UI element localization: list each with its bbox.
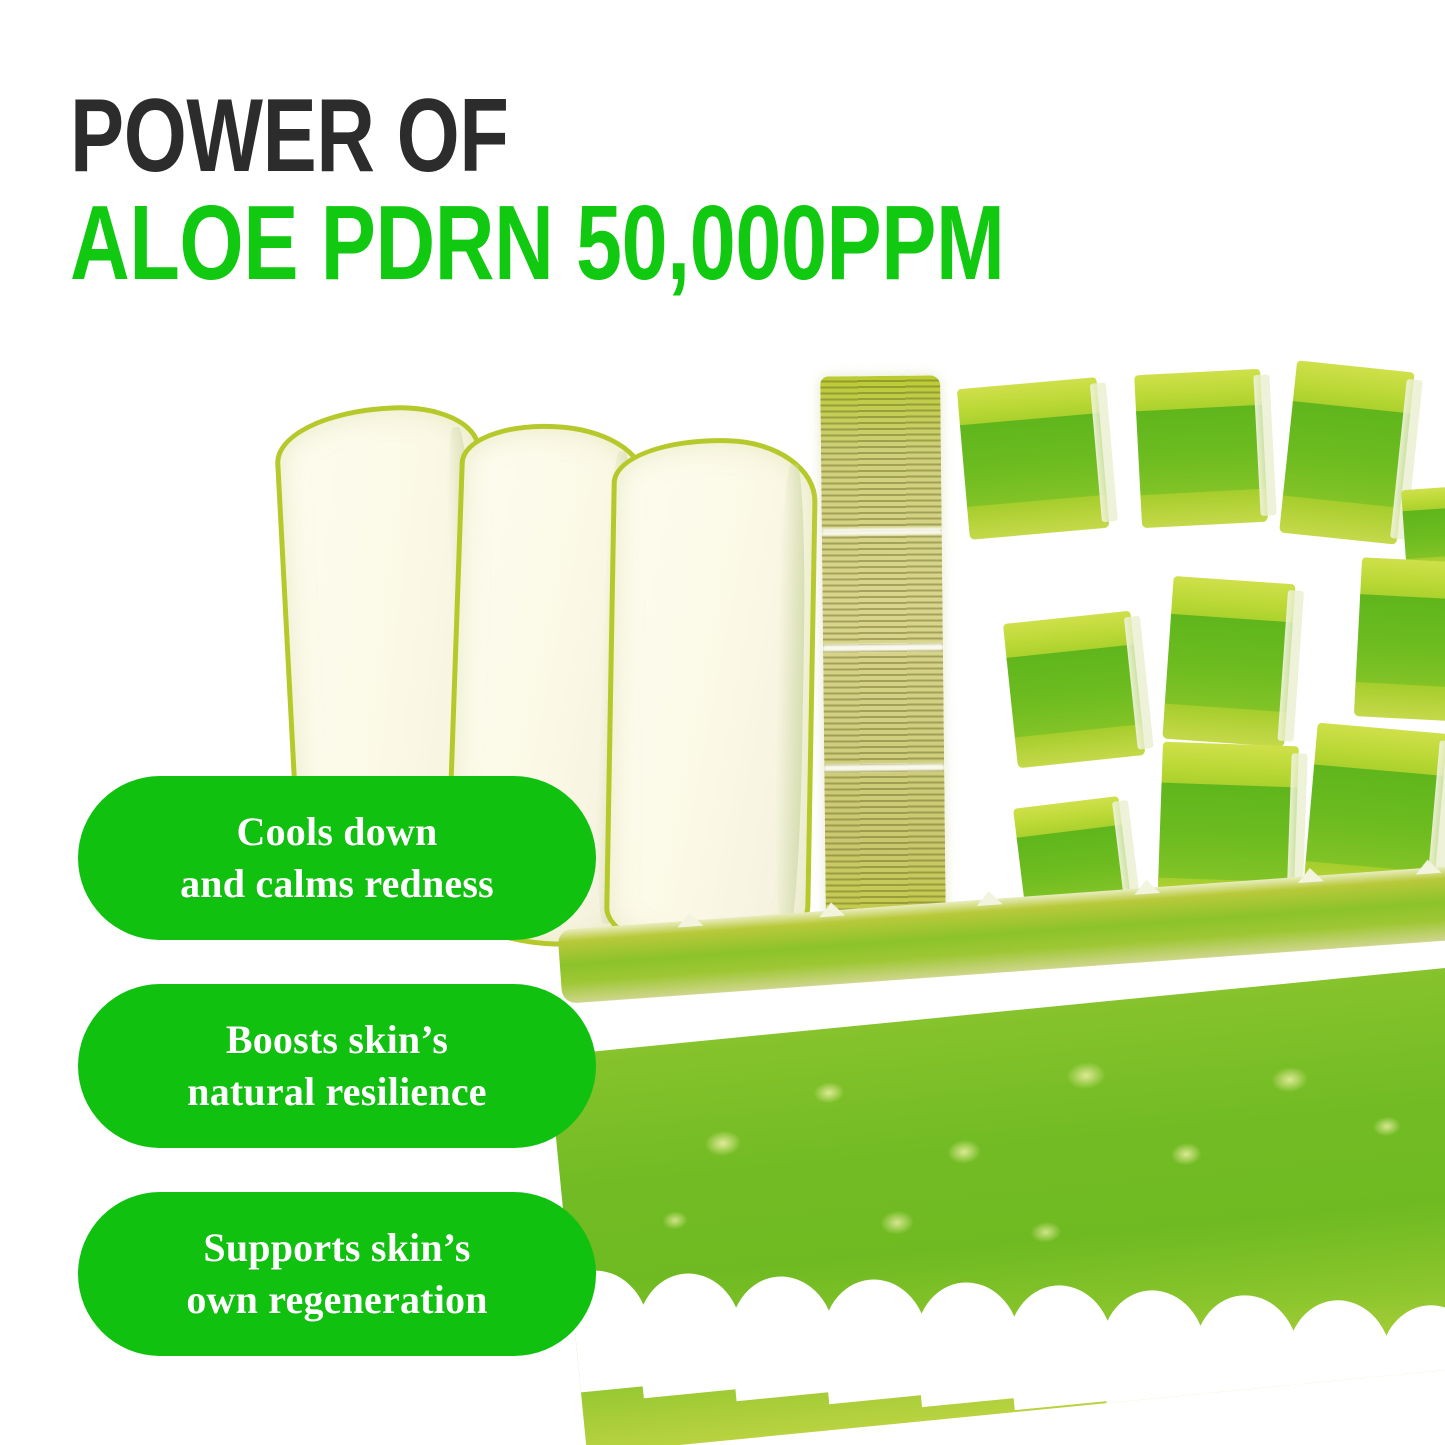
cube-base-face [1354,682,1445,722]
cube-base-face [1140,489,1268,529]
strip-highlight-band [823,643,943,651]
benefit-pill-1[interactable]: Cools down and calms redness [78,776,596,940]
aloe-gel-edge [773,464,807,932]
cube-front-face [1283,401,1411,511]
poster-canvas: POWER OF ALOE PDRN 50,000PPM Cools down … [0,0,1445,1445]
benefit-pill-2-line-2: natural resilience [187,1066,486,1118]
headline-line-1: POWER OF [70,84,509,188]
aloe-gel-cube [1134,369,1268,525]
aloe-gel-cube [1163,576,1296,744]
strip-highlight-band [824,763,944,771]
cube-front-face [1165,614,1293,715]
benefit-pill-2-line-1: Boosts skin’s [187,1014,486,1066]
benefit-pill-2[interactable]: Boosts skin’s natural resilience [78,984,596,1148]
leaf-scallop [1375,1300,1445,1430]
aloe-fillet-slice [603,436,818,958]
cube-front-face [1355,595,1445,691]
benefit-pill-3-line-1: Supports skin’s [186,1222,487,1274]
aloe-gel-cube [1003,611,1145,766]
aloe-gel-cube [957,377,1109,537]
aloe-gel-cube [1279,360,1414,541]
benefit-pill-1-line-2: and calms redness [180,858,494,910]
benefit-pill-3[interactable]: Supports skin’s own regeneration [78,1192,596,1356]
headline-line-2: ALOE PDRN 50,000PPM [70,190,1005,296]
cube-front-face [1158,782,1297,885]
strip-highlight-band [822,527,942,535]
aloe-large-leaf [548,966,1445,1445]
cube-front-face [960,413,1107,511]
cube-base-face [1162,704,1286,748]
cube-front-face [1136,405,1266,498]
benefit-pill-3-line-2: own regeneration [186,1274,487,1326]
cube-front-face [1403,506,1445,560]
leaf-thorn [976,890,1003,906]
benefit-pill-1-line-1: Cools down [180,806,494,858]
cube-front-face [1305,764,1443,876]
aloe-gel-cube [1354,557,1445,719]
aloe-skin-strip [820,375,946,922]
